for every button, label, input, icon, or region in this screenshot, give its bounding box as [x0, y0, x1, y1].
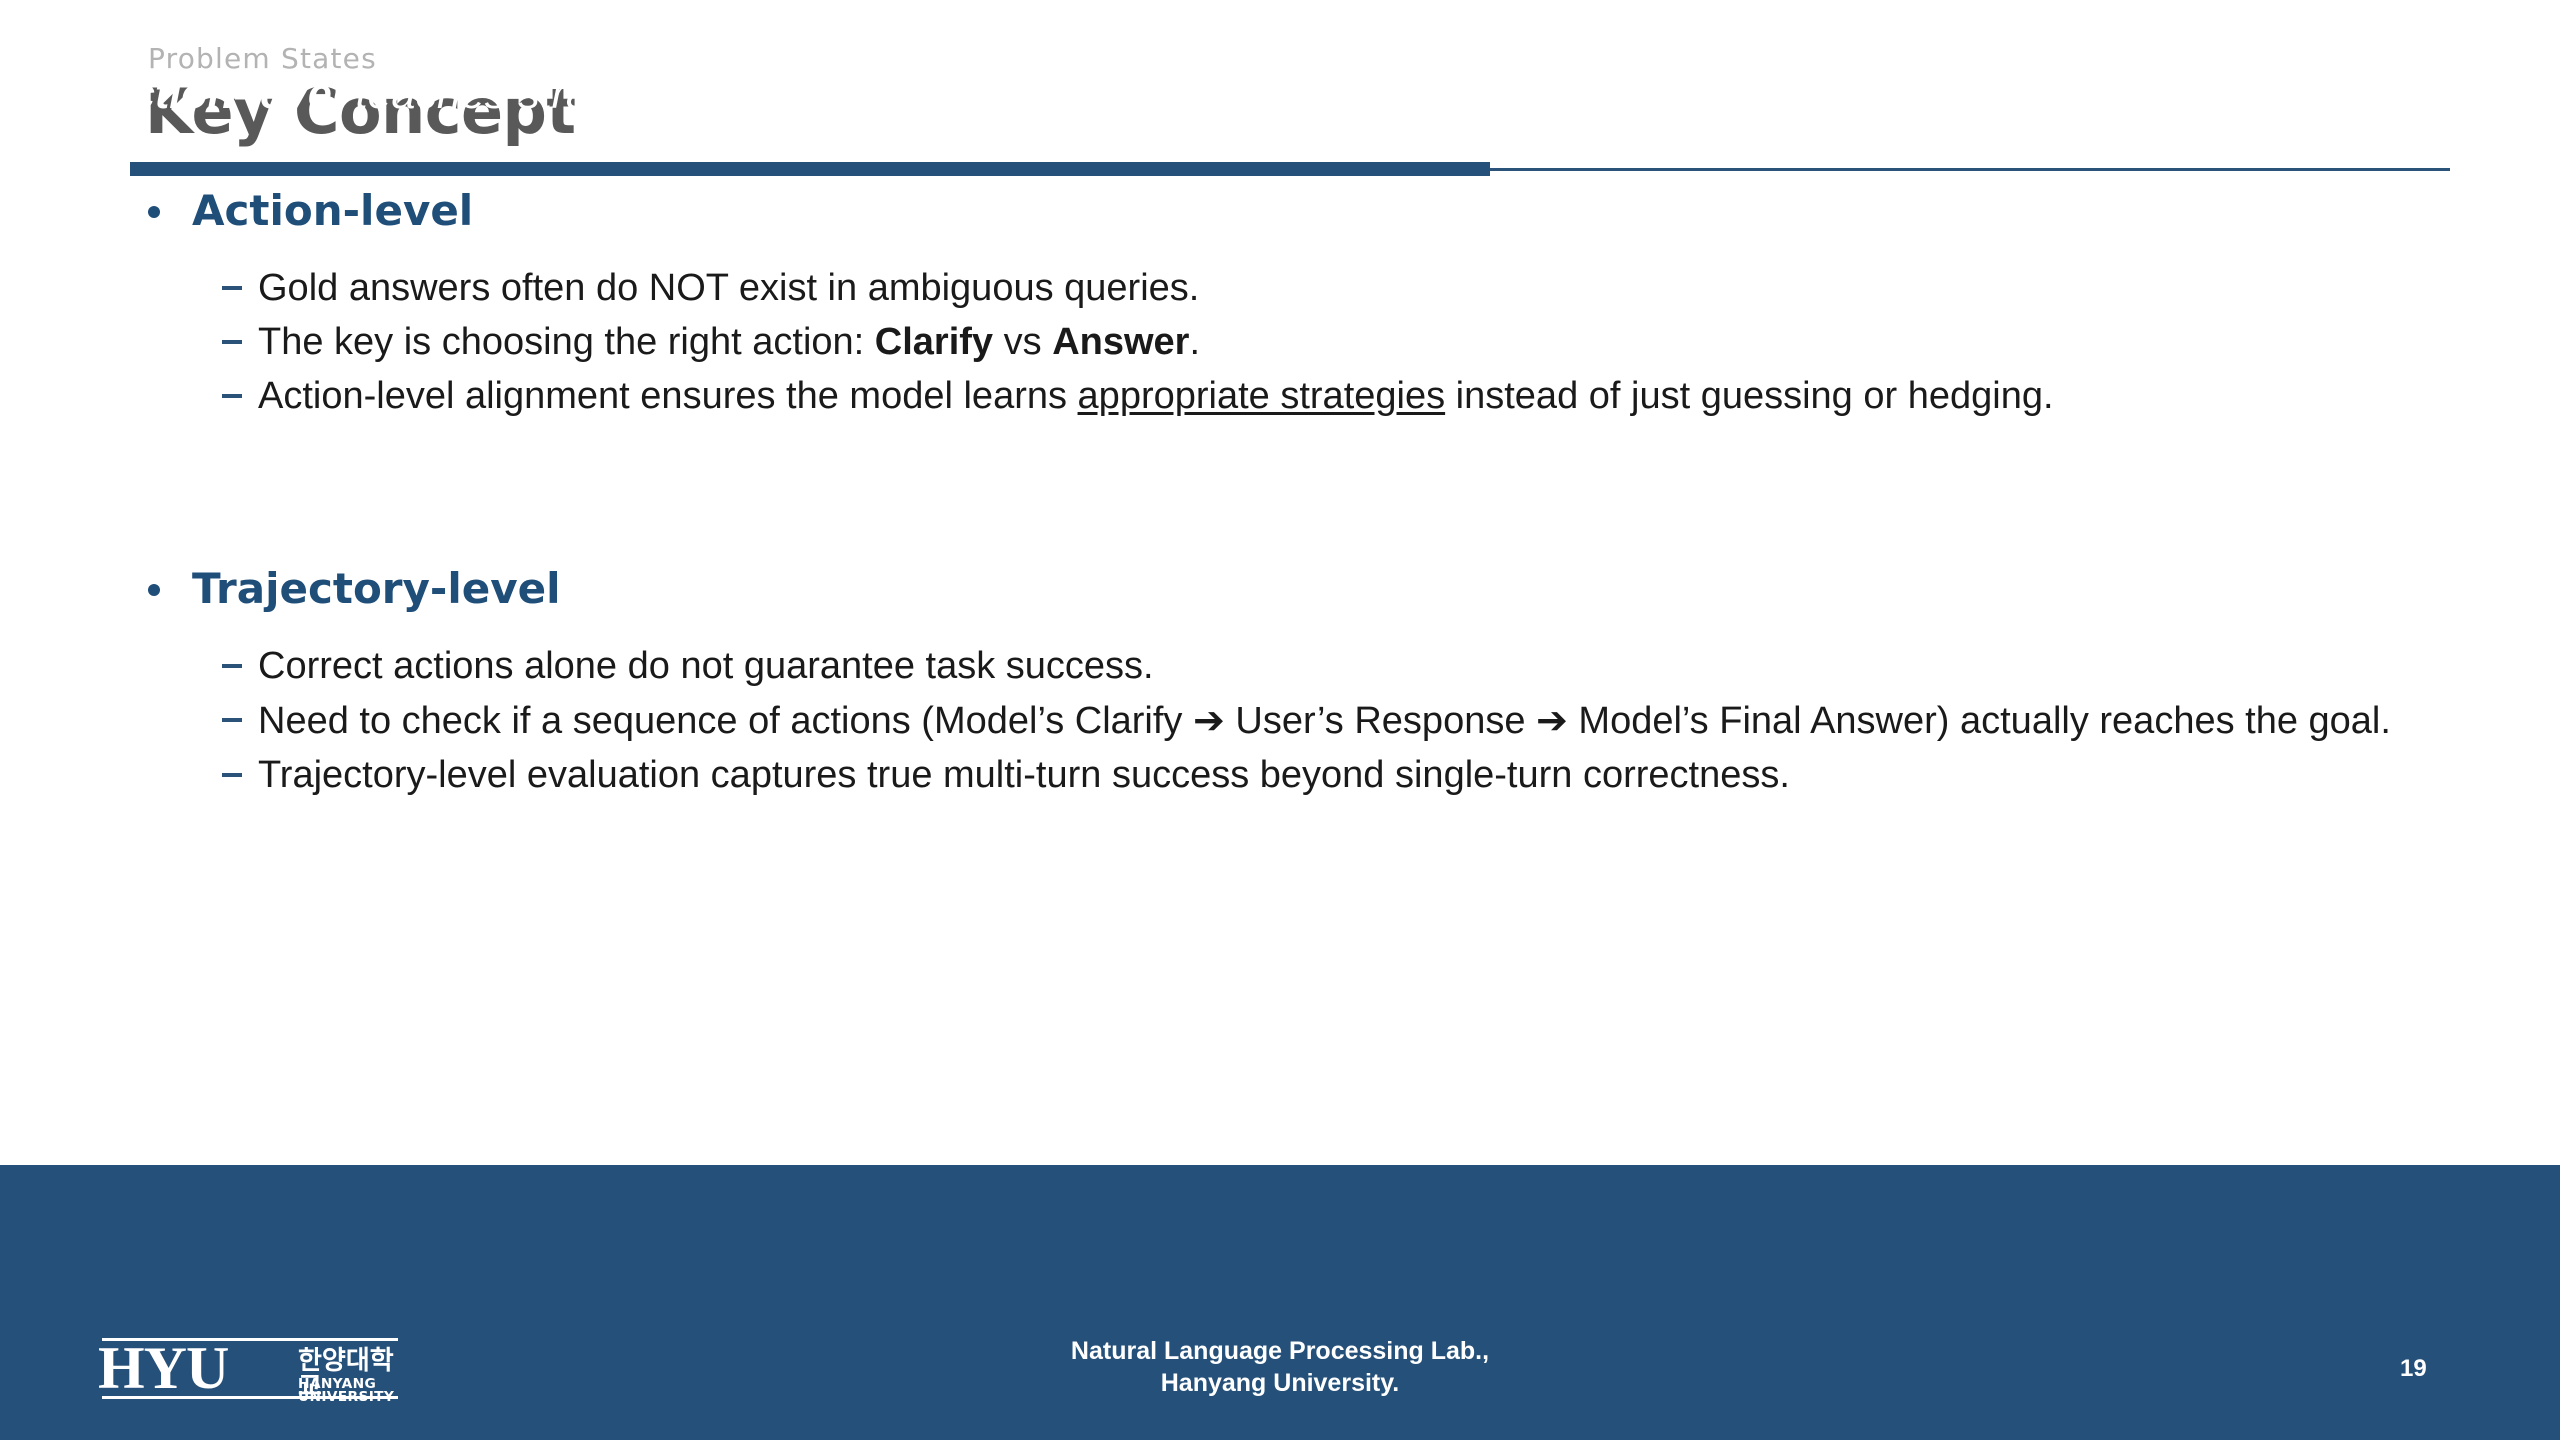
- dash-bullet-icon: [222, 664, 242, 668]
- sub-bullet-text: Gold answers often do NOT exist in ambig…: [258, 267, 1199, 309]
- sub-bullet: Action-level alignment ensures the model…: [0, 374, 2560, 418]
- sub-bullet: Trajectory-level evaluation captures tru…: [0, 753, 2560, 797]
- bullet-heading-label: Action-level: [192, 186, 473, 235]
- sub-bullet: Need to check if a sequence of actions (…: [0, 698, 2560, 743]
- takeaway-text: Action-level teaches strategy, but traje…: [100, 70, 2114, 118]
- sub-bullet-text: Need to check if a sequence of actions (…: [258, 700, 2391, 742]
- dash-bullet-icon: [222, 773, 242, 777]
- takeaway-statement: Action-level teaches strategy, but traje…: [100, 70, 2500, 119]
- hyu-logo: HYU 한양대학교 HANYANG UNIVERSITY: [98, 1336, 398, 1402]
- page-number: 19: [2400, 1355, 2427, 1383]
- sub-bullet: The key is choosing the right action: Cl…: [0, 320, 2560, 364]
- slide-body: Action-level Gold answers often do NOT e…: [0, 190, 2560, 1165]
- logo-rule-bottom: [102, 1396, 398, 1399]
- sub-bullet: Gold answers often do NOT exist in ambig…: [0, 266, 2560, 310]
- sub-bullet-text: Trajectory-level evaluation captures tru…: [258, 754, 1790, 796]
- bullet-dot-icon: [148, 206, 160, 218]
- affiliation-line-2: Hanyang University.: [880, 1367, 1680, 1399]
- sub-bullet-text: Correct actions alone do not guarantee t…: [258, 645, 1154, 687]
- bullet-dot-icon: [148, 584, 160, 596]
- sub-bullet-text: Action-level alignment ensures the model…: [258, 375, 2054, 417]
- content-group-trajectory-level: Trajectory-level Correct actions alone d…: [0, 568, 2560, 797]
- logo-english-name: HANYANG UNIVERSITY: [298, 1378, 404, 1404]
- content-group-action-level: Action-level Gold answers often do NOT e…: [0, 190, 2560, 418]
- dash-bullet-icon: [222, 286, 242, 290]
- dash-bullet-icon: [222, 340, 242, 344]
- bullet-heading-trajectory-level: Trajectory-level: [0, 568, 2560, 610]
- title-rule-thick: [130, 162, 1490, 176]
- dash-bullet-icon: [222, 718, 242, 722]
- logo-letters: HYU: [98, 1338, 228, 1398]
- footer-affiliation: Natural Language Processing Lab., Hanyan…: [880, 1335, 1680, 1399]
- bullet-heading-action-level: Action-level: [0, 190, 2560, 232]
- dash-bullet-icon: [222, 394, 242, 398]
- sub-bullet-text: The key is choosing the right action: Cl…: [258, 321, 1200, 363]
- bullet-heading-label: Trajectory-level: [192, 564, 560, 613]
- affiliation-line-1: Natural Language Processing Lab.,: [880, 1335, 1680, 1367]
- sub-bullet: Correct actions alone do not guarantee t…: [0, 644, 2560, 688]
